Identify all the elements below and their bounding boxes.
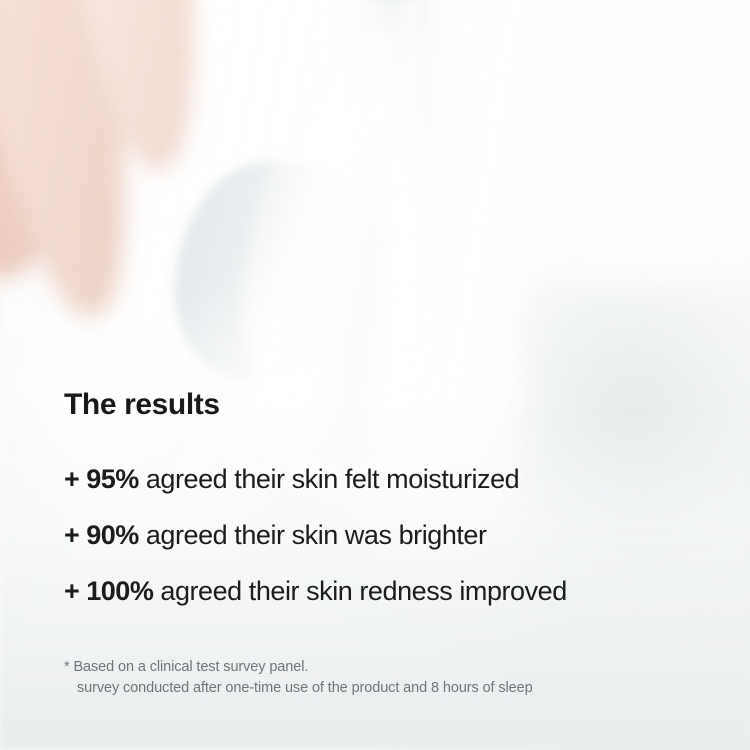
result-percent-3: + 100% xyxy=(64,576,153,606)
result-percent-2: + 90% xyxy=(64,520,139,550)
result-item-2: + 90% agreed their skin was brighter xyxy=(64,522,567,549)
result-item-1: + 95% agreed their skin felt moisturized xyxy=(64,466,567,493)
result-item-3: + 100% agreed their skin redness improve… xyxy=(64,578,567,605)
text-content: The results + 95% agreed their skin felt… xyxy=(0,0,750,750)
product-results-graphic: The results + 95% agreed their skin felt… xyxy=(0,0,750,750)
page-title: The results xyxy=(64,388,220,422)
footnote-line-1: * Based on a clinical test survey panel. xyxy=(64,659,308,675)
result-text-3: agreed their skin redness improved xyxy=(153,576,566,606)
footnote: * Based on a clinical test survey panel.… xyxy=(64,657,533,699)
result-text-2: agreed their skin was brighter xyxy=(139,520,487,550)
result-text-1: agreed their skin felt moisturized xyxy=(139,464,519,494)
results-list: + 95% agreed their skin felt moisturized… xyxy=(64,466,567,605)
footnote-line-2: survey conducted after one-time use of t… xyxy=(64,678,533,699)
result-percent-1: + 95% xyxy=(64,464,139,494)
